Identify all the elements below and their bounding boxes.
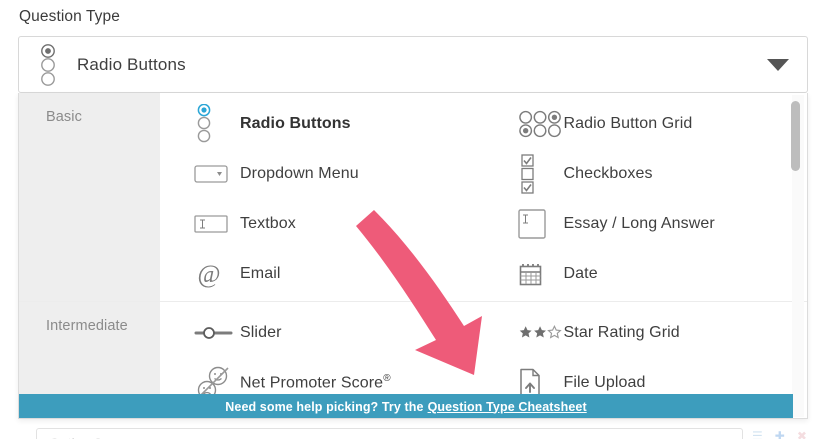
chevron-down-icon[interactable] xyxy=(767,59,789,71)
dropdown-menu-icon xyxy=(194,163,240,185)
page-title: Question Type xyxy=(19,8,120,26)
option-label: Radio Button Grid xyxy=(564,115,693,133)
question-type-option-textbox[interactable]: Textbox xyxy=(160,199,484,249)
question-type-cheatsheet-link[interactable]: Question Type Cheatsheet xyxy=(428,400,587,414)
dropdown-scrollbar-thumb[interactable] xyxy=(791,101,800,171)
registered-trademark-mark: ® xyxy=(383,373,390,384)
question-type-option-radio-buttons[interactable]: Radio Buttons xyxy=(160,99,484,149)
question-type-option-checkboxes[interactable]: Checkboxes xyxy=(484,149,808,199)
question-type-option-star-rating-grid[interactable]: Star Rating Grid xyxy=(484,308,808,358)
question-type-select-value: Radio Buttons xyxy=(77,55,186,75)
calendar-date-icon xyxy=(518,261,564,287)
option-label: Email xyxy=(240,265,281,283)
textbox-icon xyxy=(194,213,240,235)
delete-icon[interactable]: ✖ xyxy=(797,429,807,439)
option-label: Dropdown Menu xyxy=(240,165,359,183)
option-label: Essay / Long Answer xyxy=(564,215,715,233)
option-row-actions: ☰ ✚ ✖ xyxy=(752,429,824,439)
question-type-group-basic: Basic Radio Buttons xyxy=(19,93,807,302)
question-type-option-date[interactable]: Date xyxy=(484,249,808,299)
star-rating-grid-icon xyxy=(518,324,564,342)
option-label: Date xyxy=(564,265,598,283)
question-type-option-email[interactable]: @ Email xyxy=(160,249,484,299)
slider-icon xyxy=(194,325,240,341)
option-row-below[interactable]: Option 2 xyxy=(36,428,743,439)
option-label: File Upload xyxy=(564,374,646,392)
help-banner-text: Need some help picking? Try the xyxy=(225,400,423,414)
option-label: Textbox xyxy=(240,215,296,233)
question-type-option-essay-long-answer[interactable]: Essay / Long Answer xyxy=(484,199,808,249)
question-type-dropdown-panel: Basic Radio Buttons xyxy=(18,93,808,419)
radio-button-grid-icon xyxy=(518,109,564,139)
question-type-selector-screen: Question Type Radio Buttons Basic xyxy=(0,0,827,439)
question-type-select[interactable]: Radio Buttons xyxy=(18,36,808,93)
radio-buttons-icon xyxy=(19,44,77,86)
checkboxes-icon xyxy=(518,154,564,194)
question-type-option-radio-button-grid[interactable]: Radio Button Grid xyxy=(484,99,808,149)
question-type-option-dropdown-menu[interactable]: Dropdown Menu xyxy=(160,149,484,199)
email-at-icon: @ xyxy=(194,259,240,289)
dropdown-scrollbar-track[interactable] xyxy=(792,95,804,417)
option-label: Slider xyxy=(240,324,282,342)
add-icon[interactable]: ✚ xyxy=(775,429,785,439)
option-label: Star Rating Grid xyxy=(564,324,680,342)
question-type-option-slider[interactable]: Slider xyxy=(160,308,484,358)
radio-buttons-icon xyxy=(194,104,240,144)
help-banner: Need some help picking? Try the Question… xyxy=(19,394,793,419)
group-label-basic: Basic xyxy=(19,93,160,301)
svg-text:@: @ xyxy=(197,261,220,288)
option-label: Net Promoter Score® xyxy=(240,373,391,392)
option-label: Checkboxes xyxy=(564,165,653,183)
option-label: Radio Buttons xyxy=(240,115,351,133)
move-handle-icon[interactable]: ☰ xyxy=(752,429,763,439)
option-row-text: Option 2 xyxy=(49,435,102,439)
essay-long-answer-icon xyxy=(518,208,564,240)
